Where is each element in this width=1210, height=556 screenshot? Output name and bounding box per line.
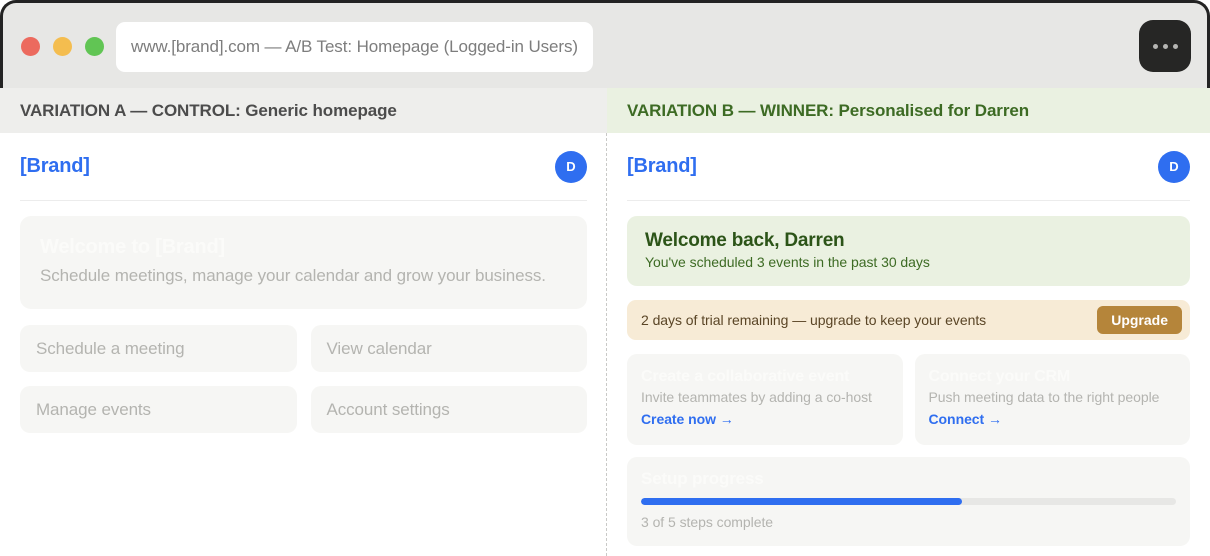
control-action-account-settings[interactable]: Account settings bbox=[311, 386, 588, 433]
promo-subtitle: Push meeting data to the right people bbox=[929, 389, 1177, 405]
welcome-back-subtitle: You've scheduled 3 events in the past 30… bbox=[645, 254, 1172, 270]
setup-progress-fill bbox=[641, 498, 962, 505]
winner-avatar[interactable]: D bbox=[1158, 151, 1190, 183]
control-quick-actions: Schedule a meeting View calendar Manage … bbox=[20, 325, 587, 433]
variation-a-label: VARIATION A — CONTROL: Generic homepage bbox=[20, 101, 397, 121]
winner-brand-logo[interactable]: [Brand] bbox=[627, 155, 697, 178]
control-hero-card: Welcome to [Brand] Schedule meetings, ma… bbox=[20, 216, 587, 309]
welcome-back-card: Welcome back, Darren You've scheduled 3 … bbox=[627, 216, 1190, 286]
setup-progress-card: Setup progress 3 of 5 steps complete bbox=[627, 457, 1190, 546]
browser-chrome: www.[brand].com — A/B Test: Homepage (Lo… bbox=[0, 0, 1210, 88]
variation-b-label-bar: VARIATION B — WINNER: Personalised for D… bbox=[607, 88, 1210, 133]
setup-progress-bar bbox=[641, 498, 1176, 505]
promo-card-connect-crm[interactable]: Connect your CRM Push meeting data to th… bbox=[915, 354, 1191, 445]
upgrade-button[interactable]: Upgrade bbox=[1097, 306, 1182, 334]
ab-test-comparison: www.[brand].com — A/B Test: Homepage (Lo… bbox=[0, 0, 1210, 556]
variation-a-label-bar: VARIATION A — CONTROL: Generic homepage bbox=[0, 88, 607, 133]
control-hero-title: Welcome to [Brand] bbox=[40, 234, 567, 261]
minimize-light[interactable] bbox=[53, 37, 72, 56]
promo-link-create-now[interactable]: Create now → bbox=[641, 411, 734, 427]
setup-progress-caption: 3 of 5 steps complete bbox=[641, 514, 1176, 530]
welcome-back-title: Welcome back, Darren bbox=[645, 230, 1172, 252]
zoom-light[interactable] bbox=[85, 37, 104, 56]
url-text: www.[brand].com — A/B Test: Homepage (Lo… bbox=[131, 36, 578, 58]
winner-pane: [Brand] D Welcome back, Darren You've sc… bbox=[607, 133, 1210, 556]
promo-title: Connect your CRM bbox=[929, 368, 1177, 386]
promo-cards: Create a collaborative event Invite team… bbox=[627, 354, 1190, 445]
trial-message: 2 days of trial remaining — upgrade to k… bbox=[641, 312, 986, 328]
ellipsis-dot-1 bbox=[1153, 44, 1158, 49]
close-light[interactable] bbox=[21, 37, 40, 56]
variation-divider bbox=[606, 133, 607, 556]
ellipsis-dot-2 bbox=[1163, 44, 1168, 49]
control-action-schedule-meeting[interactable]: Schedule a meeting bbox=[20, 325, 297, 372]
control-body: Welcome to [Brand] Schedule meetings, ma… bbox=[0, 201, 607, 433]
url-bar[interactable]: www.[brand].com — A/B Test: Homepage (Lo… bbox=[116, 22, 593, 72]
variation-b-label: VARIATION B — WINNER: Personalised for D… bbox=[627, 101, 1029, 121]
promo-subtitle: Invite teammates by adding a co-host bbox=[641, 389, 889, 405]
winner-body: Welcome back, Darren You've scheduled 3 … bbox=[607, 201, 1210, 546]
control-app-header: [Brand] D bbox=[20, 133, 587, 201]
window-controls bbox=[21, 37, 104, 56]
promo-title: Create a collaborative event bbox=[641, 368, 889, 386]
promo-card-collaborative-event[interactable]: Create a collaborative event Invite team… bbox=[627, 354, 903, 445]
control-brand-logo[interactable]: [Brand] bbox=[20, 155, 90, 178]
control-action-manage-events[interactable]: Manage events bbox=[20, 386, 297, 433]
ellipsis-dot-3 bbox=[1173, 44, 1178, 49]
winner-app-header: [Brand] D bbox=[627, 133, 1190, 201]
setup-progress-title: Setup progress bbox=[641, 469, 1176, 489]
control-hero-subtitle: Schedule meetings, manage your calendar … bbox=[40, 265, 567, 287]
control-action-view-calendar[interactable]: View calendar bbox=[311, 325, 588, 372]
trial-banner: 2 days of trial remaining — upgrade to k… bbox=[627, 300, 1190, 340]
promo-link-connect[interactable]: Connect → bbox=[929, 411, 1002, 427]
control-avatar[interactable]: D bbox=[555, 151, 587, 183]
ellipsis-icon[interactable] bbox=[1139, 20, 1191, 72]
control-pane: [Brand] D Welcome to [Brand] Schedule me… bbox=[0, 133, 607, 556]
